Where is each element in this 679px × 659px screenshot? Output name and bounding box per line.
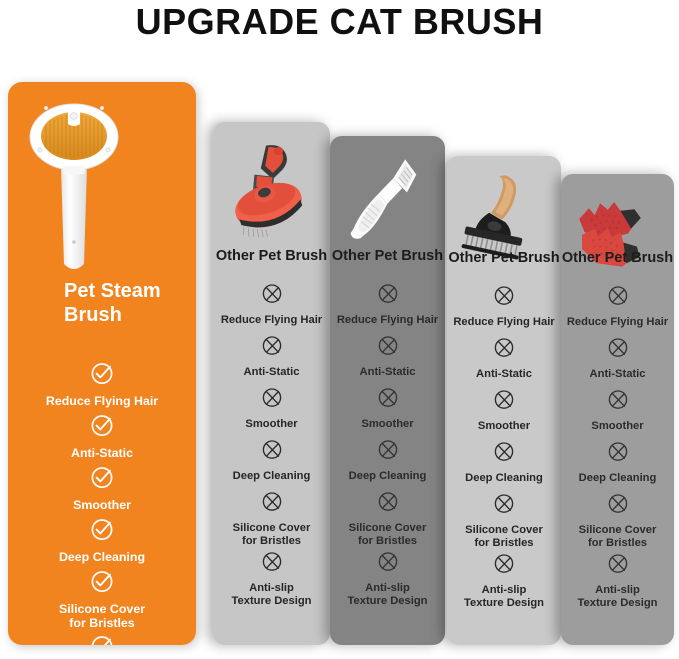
cross-circle-icon bbox=[330, 386, 445, 415]
page-title: UPGRADE CAT BRUSH bbox=[0, 2, 679, 42]
feature-label: Anti-Static bbox=[330, 366, 445, 379]
cross-circle-icon bbox=[330, 334, 445, 363]
competitor-name: Other Pet Brush bbox=[213, 248, 330, 264]
feature-row-reduce-flying-hair: Reduce Flying Hair bbox=[8, 360, 196, 408]
feature-label: Deep Cleaning bbox=[213, 470, 330, 483]
red-slicker-brush-image bbox=[213, 136, 330, 244]
competitor-card-3[interactable]: Other Pet Brush Reduce Flying Hair Anti-… bbox=[447, 156, 561, 645]
feature-label: Anti-Static bbox=[8, 446, 196, 460]
comparison-infographic: UPGRADE CAT BRUSH bbox=[0, 0, 679, 659]
feature-label: Anti-Static bbox=[213, 366, 330, 379]
feature-label: Silicone Cover for Bristles bbox=[8, 602, 196, 630]
cross-circle-icon bbox=[447, 440, 561, 469]
feature-row-anti-slip: Anti-slip Texture Design bbox=[447, 552, 561, 609]
feature-row-anti-static: Anti-Static bbox=[447, 336, 561, 381]
feature-label: Silicone Cover for Bristles bbox=[213, 522, 330, 547]
cross-circle-icon bbox=[213, 386, 330, 415]
feature-label: Reduce Flying Hair bbox=[8, 394, 196, 408]
cross-circle-icon bbox=[213, 550, 330, 579]
feature-label: Reduce Flying Hair bbox=[213, 314, 330, 327]
cross-circle-icon bbox=[561, 284, 674, 313]
feature-label: Smoother bbox=[213, 418, 330, 431]
pet-steam-brush-image bbox=[24, 94, 124, 289]
feature-row-reduce-flying-hair: Reduce Flying Hair bbox=[561, 284, 674, 329]
product-card-pet-steam-brush[interactable]: Pet Steam Brush Reduce Flying Hair Anti-… bbox=[8, 82, 196, 645]
cross-circle-icon bbox=[447, 552, 561, 581]
feature-row-smoother: Smoother bbox=[447, 388, 561, 433]
check-circle-icon bbox=[8, 412, 196, 443]
cross-circle-icon bbox=[213, 438, 330, 467]
feature-label: Reduce Flying Hair bbox=[561, 316, 674, 329]
feature-label: Silicone Cover for Bristles bbox=[447, 524, 561, 549]
feature-row-deep-cleaning: Deep Cleaning bbox=[8, 516, 196, 564]
cross-circle-icon bbox=[330, 282, 445, 311]
competitor-card-1[interactable]: Other Pet Brush Reduce Flying Hair Anti-… bbox=[213, 122, 330, 645]
cross-circle-icon bbox=[213, 334, 330, 363]
feature-row-anti-static: Anti-Static bbox=[213, 334, 330, 379]
feature-row-silicone-cover: Silicone Cover for Bristles bbox=[330, 490, 445, 547]
feature-row-anti-slip: Anti-slip Texture Design bbox=[330, 550, 445, 607]
cross-circle-icon bbox=[330, 490, 445, 519]
feature-label: Deep Cleaning bbox=[8, 550, 196, 564]
check-circle-icon bbox=[8, 568, 196, 599]
competitor-card-2[interactable]: Other Pet Brush Reduce Flying Hair Anti-… bbox=[330, 136, 445, 645]
feature-row-reduce-flying-hair: Reduce Flying Hair bbox=[330, 282, 445, 327]
cross-circle-icon bbox=[447, 284, 561, 313]
feature-row-anti-static: Anti-Static bbox=[8, 412, 196, 460]
cross-circle-icon bbox=[561, 492, 674, 521]
check-circle-icon bbox=[8, 516, 196, 547]
cross-circle-icon bbox=[447, 492, 561, 521]
feature-label: Anti-Static bbox=[561, 368, 674, 381]
cross-circle-icon bbox=[447, 336, 561, 365]
cross-circle-icon bbox=[561, 440, 674, 469]
feature-row-deep-cleaning: Deep Cleaning bbox=[213, 438, 330, 483]
feature-row-deep-cleaning: Deep Cleaning bbox=[561, 440, 674, 485]
white-deshedding-comb-image bbox=[330, 150, 445, 254]
competitor-name: Other Pet Brush bbox=[330, 248, 445, 264]
feature-row-reduce-flying-hair: Reduce Flying Hair bbox=[447, 284, 561, 329]
feature-row-smoother: Smoother bbox=[561, 388, 674, 433]
feature-row-silicone-cover: Silicone Cover for Bristles bbox=[447, 492, 561, 549]
cross-circle-icon bbox=[447, 388, 561, 417]
feature-label: Deep Cleaning bbox=[330, 470, 445, 483]
check-circle-icon bbox=[8, 464, 196, 495]
feature-row-deep-cleaning: Deep Cleaning bbox=[330, 438, 445, 483]
feature-label: Anti-slip Texture Design bbox=[447, 584, 561, 609]
feature-row-anti-static: Anti-Static bbox=[561, 336, 674, 381]
feature-row-silicone-cover: Silicone Cover for Bristles bbox=[213, 490, 330, 547]
feature-row-smoother: Smoother bbox=[8, 464, 196, 512]
feature-label: Deep Cleaning bbox=[561, 472, 674, 485]
cross-circle-icon bbox=[330, 550, 445, 579]
check-circle-icon bbox=[8, 633, 196, 645]
feature-label: Reduce Flying Hair bbox=[330, 314, 445, 327]
competitor-name: Other Pet Brush bbox=[447, 250, 561, 266]
feature-row-smoother: Smoother bbox=[330, 386, 445, 431]
cross-circle-icon bbox=[330, 438, 445, 467]
feature-label: Anti-Static bbox=[447, 368, 561, 381]
feature-label: Smoother bbox=[330, 418, 445, 431]
feature-label: Silicone Cover for Bristles bbox=[330, 522, 445, 547]
feature-row-silicone-cover: Silicone Cover for Bristles bbox=[8, 568, 196, 630]
cross-circle-icon bbox=[561, 336, 674, 365]
feature-label: Smoother bbox=[447, 420, 561, 433]
feature-row-anti-static: Anti-Static bbox=[330, 334, 445, 379]
feature-row-deep-cleaning: Deep Cleaning bbox=[447, 440, 561, 485]
feature-label: Anti-slip Texture Design bbox=[213, 582, 330, 607]
competitor-name: Other Pet Brush bbox=[561, 250, 674, 266]
feature-label: Reduce Flying Hair bbox=[447, 316, 561, 329]
check-circle-icon bbox=[8, 360, 196, 391]
competitor-card-4[interactable]: Other Pet Brush Reduce Flying Hair Anti-… bbox=[561, 174, 674, 645]
feature-label: Silicone Cover for Bristles bbox=[561, 524, 674, 549]
cross-circle-icon bbox=[561, 552, 674, 581]
cross-circle-icon bbox=[213, 282, 330, 311]
feature-row-anti-slip: Anti-slip Texture Design bbox=[561, 552, 674, 609]
feature-row-reduce-flying-hair: Reduce Flying Hair bbox=[213, 282, 330, 327]
feature-row-anti-slip: Anti-slip Texture Design bbox=[8, 633, 196, 645]
main-product-name: Pet Steam Brush bbox=[64, 279, 184, 327]
feature-label: Smoother bbox=[8, 498, 196, 512]
cross-circle-icon bbox=[561, 388, 674, 417]
feature-row-anti-slip: Anti-slip Texture Design bbox=[213, 550, 330, 607]
feature-label: Anti-slip Texture Design bbox=[561, 584, 674, 609]
feature-label: Smoother bbox=[561, 420, 674, 433]
cross-circle-icon bbox=[213, 490, 330, 519]
red-grooming-gloves-image bbox=[561, 188, 674, 280]
feature-label: Anti-slip Texture Design bbox=[330, 582, 445, 607]
feature-row-silicone-cover: Silicone Cover for Bristles bbox=[561, 492, 674, 549]
feature-row-smoother: Smoother bbox=[213, 386, 330, 431]
feature-label: Deep Cleaning bbox=[447, 472, 561, 485]
